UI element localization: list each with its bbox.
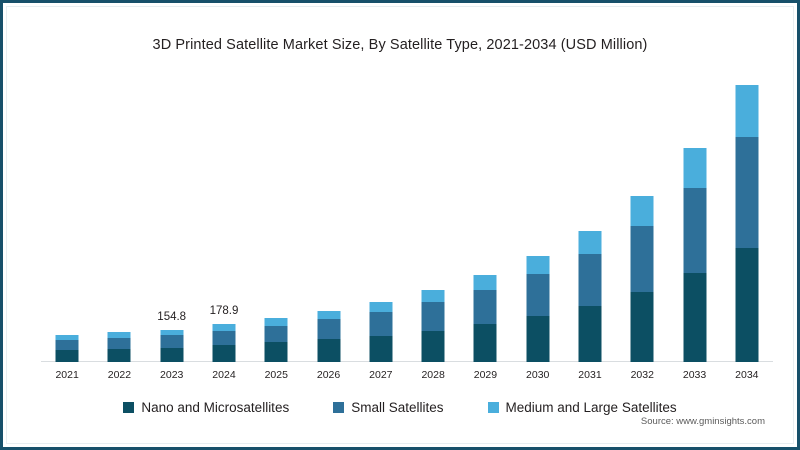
bar-slot [250, 77, 302, 362]
legend-item[interactable]: Medium and Large Satellites [488, 400, 677, 415]
bar-slot [564, 77, 616, 362]
bar-segment[interactable] [474, 290, 497, 324]
bar-segment[interactable] [683, 273, 706, 362]
x-tick-2027: 2027 [355, 369, 407, 381]
x-tick-2022: 2022 [93, 369, 145, 381]
legend-swatch-icon [333, 402, 344, 413]
stacked-bar[interactable] [265, 318, 288, 362]
bar-segment[interactable] [422, 302, 445, 330]
stacked-bar[interactable] [369, 302, 392, 362]
bar-segment[interactable] [631, 196, 654, 226]
bar-segment[interactable] [526, 256, 549, 274]
x-tick-2021: 2021 [41, 369, 93, 381]
bar-segment[interactable] [735, 248, 758, 362]
bar-segment[interactable] [369, 336, 392, 362]
bar-segment[interactable] [56, 350, 79, 362]
x-tick-2029: 2029 [459, 369, 511, 381]
bar-segment[interactable] [265, 318, 288, 325]
bar-segment[interactable] [631, 226, 654, 292]
bar-segment[interactable] [317, 339, 340, 362]
x-tick-2034: 2034 [721, 369, 773, 381]
bar-segment[interactable] [683, 148, 706, 187]
x-tick-2030: 2030 [512, 369, 564, 381]
x-tick-2032: 2032 [616, 369, 668, 381]
legend-label: Small Satellites [351, 400, 443, 415]
bar-segment[interactable] [422, 331, 445, 362]
chart-frame: 3D Printed Satellite Market Size, By Sat… [0, 0, 800, 450]
bar-value-label: 154.8 [157, 311, 186, 323]
bar-segment[interactable] [369, 302, 392, 312]
legend-label: Nano and Microsatellites [141, 400, 289, 415]
stacked-bar[interactable] [578, 231, 601, 362]
stacked-bar[interactable] [683, 148, 706, 362]
bar-segment[interactable] [474, 275, 497, 290]
bar-segment[interactable] [422, 290, 445, 302]
x-tick-2024: 2024 [198, 369, 250, 381]
legend-item[interactable]: Nano and Microsatellites [123, 400, 289, 415]
stacked-bar[interactable] [212, 324, 235, 362]
legend-swatch-icon [123, 402, 134, 413]
bar-slot [93, 77, 145, 362]
stacked-bar[interactable] [317, 311, 340, 362]
bar-segment[interactable] [108, 338, 131, 349]
bar-segment[interactable] [631, 292, 654, 362]
stacked-bar[interactable] [735, 85, 758, 362]
bar-segment[interactable] [474, 324, 497, 362]
bar-segment[interactable] [526, 316, 549, 362]
bar-slot [302, 77, 354, 362]
x-axis-tick-labels: 2021202220232024202520262027202820292030… [41, 369, 773, 385]
x-tick-2033: 2033 [668, 369, 720, 381]
legend-swatch-icon [488, 402, 499, 413]
plot-area: 154.8178.9 [41, 77, 773, 362]
bar-slot: 178.9 [198, 77, 250, 362]
bar-segment[interactable] [317, 311, 340, 319]
bar-segment[interactable] [212, 345, 235, 362]
bar-slot [668, 77, 720, 362]
bar-slot [459, 77, 511, 362]
bar-segment[interactable] [265, 342, 288, 362]
bar-slot [721, 77, 773, 362]
bar-value-label: 178.9 [210, 305, 239, 317]
stacked-bar[interactable] [474, 275, 497, 362]
bar-slot [512, 77, 564, 362]
x-tick-2028: 2028 [407, 369, 459, 381]
stacked-bar[interactable] [526, 256, 549, 362]
bar-segment[interactable] [160, 348, 183, 362]
bar-segment[interactable] [317, 319, 340, 339]
chart-title: 3D Printed Satellite Market Size, By Sat… [7, 37, 793, 53]
bar-segment[interactable] [160, 335, 183, 348]
bar-slot [407, 77, 459, 362]
x-tick-2023: 2023 [146, 369, 198, 381]
chart-canvas: 3D Printed Satellite Market Size, By Sat… [6, 6, 794, 444]
source-caption: Source: www.gminsights.com [641, 416, 765, 427]
legend-label: Medium and Large Satellites [506, 400, 677, 415]
bar-segment[interactable] [578, 254, 601, 306]
bar-segment[interactable] [578, 306, 601, 362]
bar-segment[interactable] [212, 331, 235, 345]
bar-segment[interactable] [56, 340, 79, 350]
bar-segment[interactable] [369, 312, 392, 336]
bar-segment[interactable] [735, 85, 758, 137]
bar-slot [616, 77, 668, 362]
bar-segment[interactable] [526, 274, 549, 316]
bar-segment[interactable] [108, 349, 131, 362]
x-tick-2031: 2031 [564, 369, 616, 381]
legend-item[interactable]: Small Satellites [333, 400, 443, 415]
stacked-bar[interactable] [108, 332, 131, 362]
x-tick-2025: 2025 [250, 369, 302, 381]
chart-legend: Nano and MicrosatellitesSmall Satellites… [7, 400, 793, 415]
bar-slot: 154.8 [146, 77, 198, 362]
bar-slot [355, 77, 407, 362]
bar-segment[interactable] [735, 137, 758, 247]
bar-segment[interactable] [265, 326, 288, 343]
stacked-bar[interactable] [56, 335, 79, 362]
stacked-bar[interactable] [422, 290, 445, 362]
bar-segment[interactable] [683, 188, 706, 273]
stacked-bar[interactable] [160, 330, 183, 362]
bar-segment[interactable] [578, 231, 601, 254]
x-tick-2026: 2026 [302, 369, 354, 381]
bar-slot [41, 77, 93, 362]
stacked-bar[interactable] [631, 196, 654, 362]
